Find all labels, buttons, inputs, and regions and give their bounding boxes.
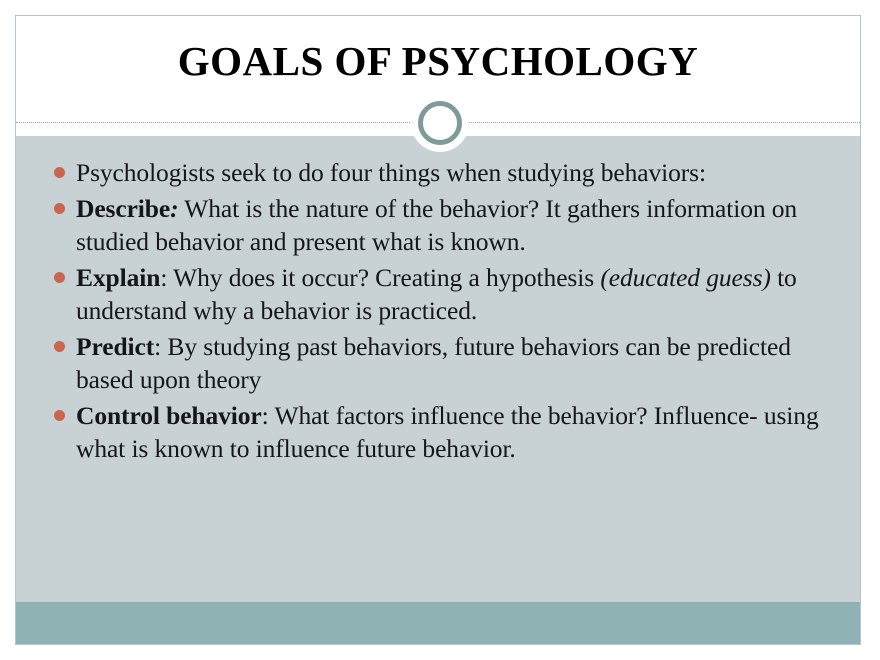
list-item-lead: Control behavior bbox=[76, 401, 262, 430]
bullet-dot-icon bbox=[54, 203, 65, 214]
bullet-dot-icon bbox=[54, 341, 65, 352]
list-item: Psychologists seek to do four things whe… bbox=[37, 156, 842, 190]
circle-ornament-icon bbox=[418, 101, 462, 145]
list-item: Control behavior: What factors influence… bbox=[37, 399, 842, 466]
bullet-dot-icon bbox=[54, 167, 65, 178]
list-item-lead-punct: : bbox=[262, 401, 269, 430]
list-item-lead: Describe bbox=[76, 194, 170, 223]
slide-body: Psychologists seek to do four things whe… bbox=[16, 136, 860, 644]
list-item-text: Psychologists seek to do four things whe… bbox=[76, 158, 706, 187]
list-item-paren-text: (educated guess) bbox=[600, 263, 770, 292]
bullet-list: Psychologists seek to do four things whe… bbox=[16, 136, 860, 468]
list-item: Predict: By studying past behaviors, fut… bbox=[37, 330, 842, 397]
slide: GOALS OF PSYCHOLOGY Psychologists seek t… bbox=[0, 0, 880, 660]
list-item-lead: Predict bbox=[76, 332, 154, 361]
list-item: Describe: What is the nature of the beha… bbox=[37, 192, 842, 259]
list-item: Explain: Why does it occur? Creating a h… bbox=[37, 261, 842, 328]
slide-frame: GOALS OF PSYCHOLOGY Psychologists seek t… bbox=[15, 15, 861, 645]
bullet-dot-icon bbox=[54, 272, 65, 283]
list-item-lead: Explain bbox=[76, 263, 160, 292]
list-item-text: What is the nature of the behavior? It g… bbox=[76, 194, 797, 257]
footer-bar bbox=[16, 602, 860, 644]
list-item-text: Why does it occur? Creating a hypothesis bbox=[167, 263, 600, 292]
page-title: GOALS OF PSYCHOLOGY bbox=[16, 37, 860, 85]
bullet-dot-icon bbox=[54, 410, 65, 421]
list-item-text: By studying past behaviors, future behav… bbox=[76, 332, 791, 395]
